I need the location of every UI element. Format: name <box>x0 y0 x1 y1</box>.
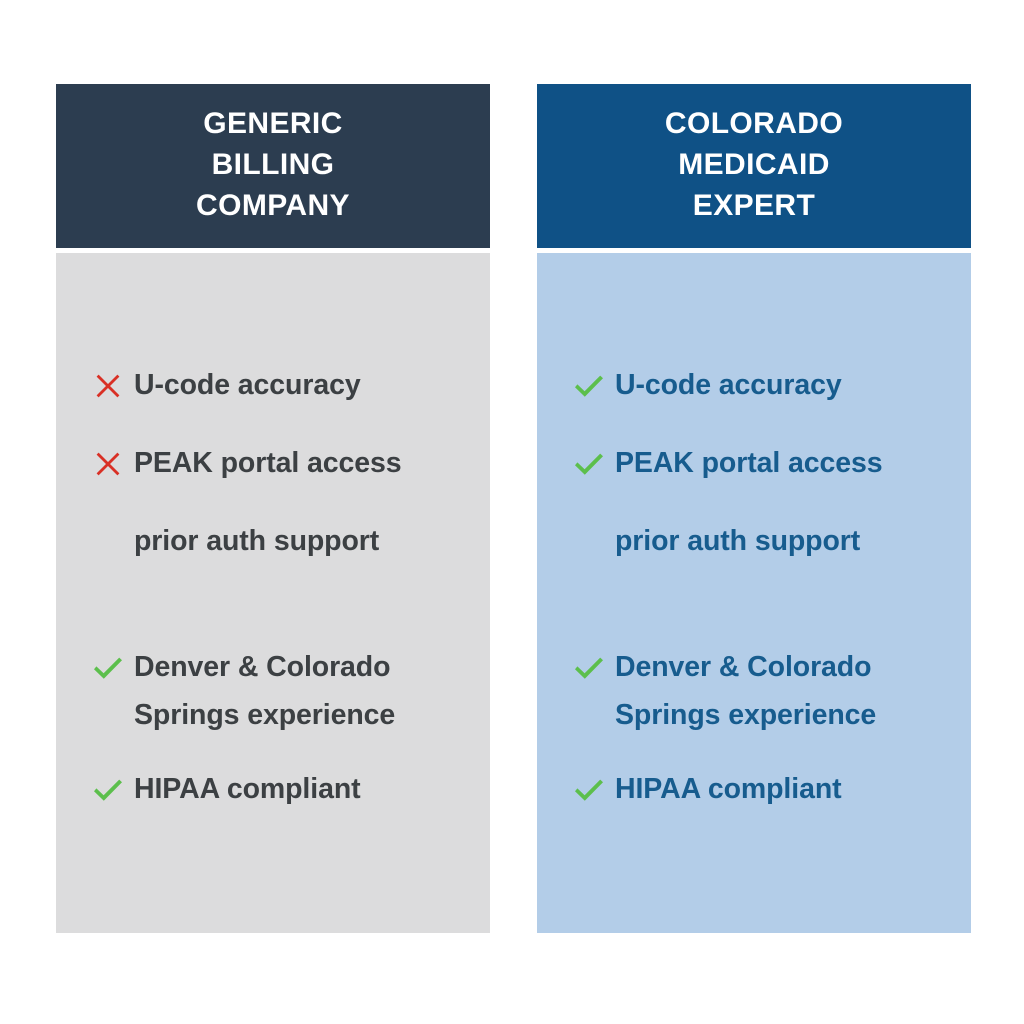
cross-icon <box>82 361 134 409</box>
feature-row: PEAK portal access <box>537 439 971 491</box>
column-title-line-1: GENERIC <box>203 103 343 144</box>
comparison-column-expert: COLORADO MEDICAID EXPERT U-code accuracy <box>537 84 971 933</box>
feature-label: prior auth support <box>134 517 379 565</box>
column-title-line-3: COMPANY <box>196 185 350 226</box>
feature-label: HIPAA compliant <box>134 765 361 813</box>
feature-row: HIPAA compliant <box>537 765 971 817</box>
feature-row: Denver & Colorado Springs experience <box>537 643 971 739</box>
check-icon <box>82 643 134 691</box>
feature-label: U-code accuracy <box>134 361 361 409</box>
column-title-line-3: EXPERT <box>693 185 815 226</box>
feature-label: Denver & Colorado Springs experience <box>615 643 876 739</box>
column-header-expert: COLORADO MEDICAID EXPERT <box>537 84 971 248</box>
cross-icon <box>82 439 134 487</box>
feature-row: U-code accuracy <box>537 361 971 413</box>
check-icon <box>563 361 615 409</box>
column-title-line-2: BILLING <box>212 144 335 185</box>
feature-row: PEAK portal access <box>56 439 490 491</box>
column-title-line-2: MEDICAID <box>678 144 830 185</box>
check-icon <box>563 439 615 487</box>
comparison-table: GENERIC BILLING COMPANY U-code accuracy <box>0 0 1024 1024</box>
feature-row: Denver & Colorado Springs experience <box>56 643 490 739</box>
column-body-generic: U-code accuracy PEAK portal access prior… <box>56 253 490 933</box>
column-body-expert: U-code accuracy PEAK portal access prior… <box>537 253 971 933</box>
no-mark-placeholder <box>563 517 615 565</box>
feature-row: HIPAA compliant <box>56 765 490 817</box>
check-icon <box>82 765 134 813</box>
feature-row: U-code accuracy <box>56 361 490 413</box>
feature-row: prior auth support <box>56 517 490 569</box>
check-icon <box>563 765 615 813</box>
feature-label: Denver & Colorado Springs experience <box>134 643 395 739</box>
column-header-generic: GENERIC BILLING COMPANY <box>56 84 490 248</box>
feature-label: PEAK portal access <box>615 439 883 487</box>
feature-row: prior auth support <box>537 517 971 569</box>
check-icon <box>563 643 615 691</box>
feature-label: prior auth support <box>615 517 860 565</box>
no-mark-placeholder <box>82 517 134 565</box>
feature-label: PEAK portal access <box>134 439 402 487</box>
column-title-line-1: COLORADO <box>665 103 843 144</box>
comparison-column-generic: GENERIC BILLING COMPANY U-code accuracy <box>56 84 490 933</box>
feature-label: HIPAA compliant <box>615 765 842 813</box>
feature-label: U-code accuracy <box>615 361 842 409</box>
